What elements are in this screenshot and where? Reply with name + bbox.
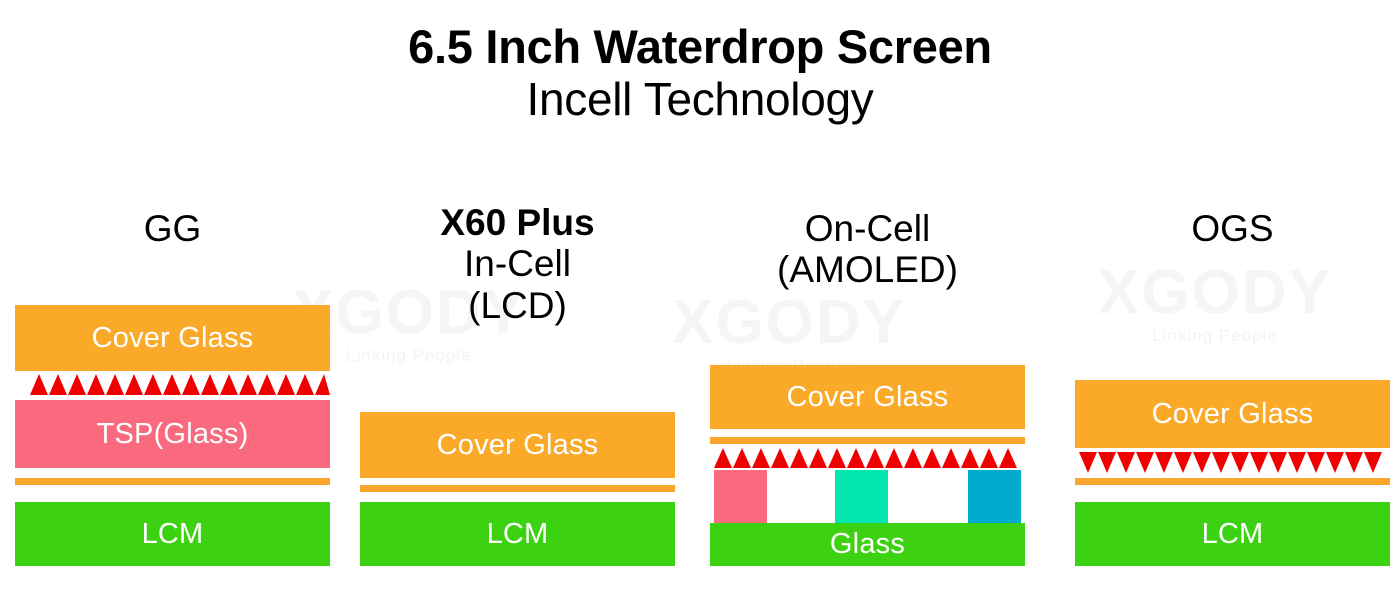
column-on-cell-heading-line-1: On-Cell: [710, 208, 1025, 249]
column-x60-plus-heading-line-2: In-Cell: [360, 243, 675, 284]
x60-plus-cover-glass-layer: Cover Glass: [360, 412, 675, 478]
column-on-cell-heading-line-2: (AMOLED): [710, 249, 1025, 290]
on-cell-bonding-rule: [710, 437, 1025, 444]
ogs-adhesive-triangles-down: [1079, 452, 1386, 473]
column-gg-heading-line-1: GG: [15, 208, 330, 249]
column-gg-heading: GG: [15, 208, 330, 249]
ogs-lcm-label: LCM: [1202, 518, 1264, 551]
gg-lcm-layer: LCM: [15, 502, 330, 566]
gg-tsp-glass-layer: TSP(Glass): [15, 400, 330, 468]
column-x60-plus-heading-line-3: (LCD): [360, 285, 675, 326]
x60-plus-cover-glass-label: Cover Glass: [437, 429, 599, 462]
column-x60-plus-heading: X60 Plus In-Cell (LCD): [360, 202, 675, 326]
title-main-text: 6.5 Inch Waterdrop Screen: [0, 22, 1400, 73]
diagram-canvas: XGODY Linking People XGODY Linking Peopl…: [0, 0, 1400, 600]
gg-lcm-label: LCM: [142, 518, 204, 551]
on-cell-glass-layer: Glass: [710, 523, 1025, 566]
on-cell-cover-glass-label: Cover Glass: [787, 381, 949, 414]
column-x60-plus-heading-line-1: X60 Plus: [360, 202, 675, 243]
gg-bonding-rule: [15, 478, 330, 485]
gg-cover-glass-layer: Cover Glass: [15, 305, 330, 371]
gg-tsp-glass-label: TSP(Glass): [97, 418, 249, 451]
x60-plus-bonding-rule: [360, 485, 675, 492]
ogs-bonding-rule: [1075, 478, 1390, 485]
x60-plus-lcm-label: LCM: [487, 518, 549, 551]
ogs-lcm-layer: LCM: [1075, 502, 1390, 566]
column-ogs-heading-line-1: OGS: [1075, 208, 1390, 249]
on-cell-adhesive-triangles-up: [714, 448, 1021, 468]
x60-plus-lcm-layer: LCM: [360, 502, 675, 566]
column-on-cell-heading: On-Cell (AMOLED): [710, 208, 1025, 291]
on-cell-subpixel-blue: [968, 470, 1021, 523]
column-ogs-heading: OGS: [1075, 208, 1390, 249]
title-sub-text: Incell Technology: [0, 73, 1400, 126]
on-cell-subpixel-red: [714, 470, 767, 523]
page-title: 6.5 Inch Waterdrop Screen Incell Technol…: [0, 22, 1400, 126]
gg-adhesive-triangles-up: [30, 374, 330, 395]
ogs-cover-glass-label: Cover Glass: [1152, 398, 1314, 431]
on-cell-cover-glass-layer: Cover Glass: [710, 365, 1025, 429]
ogs-cover-glass-layer: Cover Glass: [1075, 380, 1390, 448]
gg-cover-glass-label: Cover Glass: [92, 322, 254, 355]
on-cell-glass-label: Glass: [830, 528, 905, 561]
on-cell-subpixel-green: [835, 470, 888, 523]
